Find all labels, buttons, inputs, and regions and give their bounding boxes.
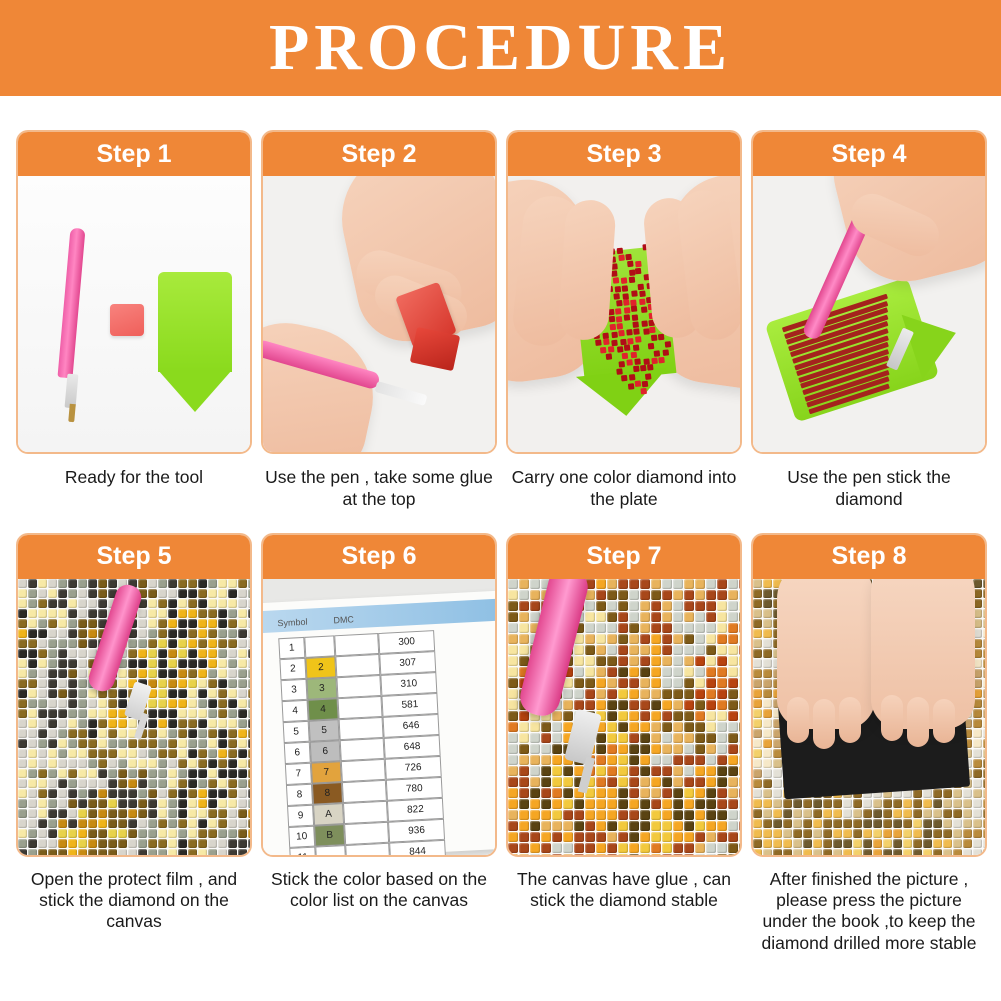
- chart-cell-code: 844: [389, 840, 446, 855]
- step-7-image: [508, 579, 740, 855]
- chart-cell-blank: [343, 801, 388, 824]
- chart-cell-code: 726: [385, 756, 442, 780]
- chart-cell-code: 780: [386, 777, 443, 801]
- chart-cell-no: 6: [284, 742, 311, 764]
- chart-cell-no: 9: [287, 804, 314, 826]
- steps-row-2: Step 5 Open the protect film , and stick…: [16, 533, 986, 954]
- step-5-card: Step 5: [16, 533, 252, 857]
- step-3-caption: Carry one color diamond into the plate: [506, 466, 742, 511]
- step-5-label: Step 5: [18, 535, 250, 579]
- chart-cell-blank: [339, 717, 384, 740]
- chart-cell-symbol: 4: [308, 698, 339, 721]
- step-3-label: Step 3: [508, 132, 740, 176]
- step-7-label: Step 7: [508, 535, 740, 579]
- step-4-image: [753, 176, 985, 452]
- chart-cell-no: 8: [286, 783, 313, 805]
- chart-cell-symbol: B: [314, 824, 345, 847]
- step-8-card: Step 8: [751, 533, 987, 857]
- steps-row-1: Step 1: [16, 130, 986, 511]
- chart-cell-blank: [342, 780, 387, 803]
- step-card-3: Step 3: [506, 130, 742, 511]
- chart-cell-code: 581: [381, 693, 438, 717]
- chart-cell-no: 5: [283, 721, 310, 743]
- chart-cell-blank: [336, 675, 381, 698]
- chart-cell-code: 310: [380, 672, 437, 696]
- procedure-poster: PROCEDURE Step 1: [0, 0, 1001, 1001]
- step-card-2: Step 2: [261, 130, 497, 511]
- step-2-card: Step 2: [261, 130, 497, 454]
- step-4-card: Step 4: [751, 130, 987, 454]
- chart-cell-no: 10: [288, 825, 315, 847]
- chart-cell-symbol: 6: [310, 740, 341, 763]
- step-4-caption: Use the pen stick the diamond: [751, 466, 987, 511]
- step-8-label: Step 8: [753, 535, 985, 579]
- page-title: PROCEDURE: [269, 15, 732, 81]
- step-1-card: Step 1: [16, 130, 252, 454]
- chart-cell-no: 2: [279, 658, 306, 680]
- step-3-image: [508, 176, 740, 452]
- chart-cell-code: 300: [378, 630, 435, 654]
- chart-cell-blank: [334, 633, 379, 656]
- chart-cell-symbol: [315, 845, 346, 855]
- step-card-4: Step 4 Use the: [751, 130, 987, 511]
- step-1-image: [18, 176, 250, 452]
- chart-cell-blank: [337, 696, 382, 719]
- chart-header-dmc: DMC: [333, 614, 355, 635]
- chart-cell-symbol: 7: [311, 761, 342, 784]
- chart-cell-symbol: 2: [305, 656, 336, 679]
- step-card-5: Step 5 Open the protect film , and stick…: [16, 533, 252, 954]
- step-2-image: [263, 176, 495, 452]
- step-6-label: Step 6: [263, 535, 495, 579]
- steps-grid: Step 1: [16, 130, 986, 954]
- step-8-caption: After finished the picture , please pres…: [751, 869, 987, 954]
- chart-cell-code: 646: [383, 714, 440, 738]
- chart-cell-symbol: 3: [306, 677, 337, 700]
- step-7-caption: The canvas have glue , can stick the dia…: [506, 869, 742, 912]
- chart-cell-no: 1: [278, 637, 305, 659]
- chart-cell-symbol: 5: [309, 719, 340, 742]
- chart-cell-blank: [341, 759, 386, 782]
- chart-cell-code: 822: [387, 798, 444, 822]
- step-card-8: Step 8: [751, 533, 987, 954]
- step-2-caption: Use the pen , take some glue at the top: [261, 466, 497, 511]
- chart-cell-code: 307: [379, 651, 436, 675]
- step-8-image: [753, 579, 985, 855]
- red-wax-icon: [110, 304, 144, 336]
- step-7-card: Step 7: [506, 533, 742, 857]
- page-header-banner: PROCEDURE: [0, 0, 1001, 96]
- chart-cell-blank: [340, 738, 385, 761]
- step-6-image: Symbol DMC 13002230733310445815564666648…: [263, 579, 495, 855]
- step-5-image: [18, 579, 250, 855]
- step-card-6: Step 6 Symbol DMC 1300223073331044581556…: [261, 533, 497, 954]
- step-1-caption: Ready for the tool: [16, 466, 252, 488]
- chart-cell-no: 4: [282, 700, 309, 722]
- chart-cell-symbol: 8: [312, 782, 343, 805]
- step-1-label: Step 1: [18, 132, 250, 176]
- chart-cell-no: 7: [285, 763, 312, 785]
- color-chart-sheet: Symbol DMC 13002230733310445815564666648…: [263, 590, 495, 855]
- step-5-caption: Open the protect film , and stick the di…: [16, 869, 252, 933]
- green-tray-icon: [158, 272, 232, 372]
- chart-cell-blank: [335, 654, 380, 677]
- chart-cell-symbol: A: [313, 803, 344, 826]
- chart-cell-no: 11: [289, 846, 316, 854]
- chart-cell-code: 936: [388, 819, 445, 843]
- chart-cell-code: 648: [384, 735, 441, 759]
- color-chart-table: 1300223073331044581556466664877726887809…: [278, 628, 494, 855]
- step-card-7: Step 7 The canvas have glue , can stick …: [506, 533, 742, 954]
- step-6-card: Step 6 Symbol DMC 1300223073331044581556…: [261, 533, 497, 857]
- step-6-caption: Stick the color based on the color list …: [261, 869, 497, 912]
- step-2-label: Step 2: [263, 132, 495, 176]
- chart-cell-blank: [345, 843, 390, 855]
- chart-cell-no: 3: [280, 679, 307, 701]
- chart-cell-symbol: [304, 635, 335, 658]
- step-4-label: Step 4: [753, 132, 985, 176]
- step-3-card: Step 3: [506, 130, 742, 454]
- chart-cell-blank: [344, 822, 389, 845]
- chart-header-symbol: Symbol: [277, 616, 308, 638]
- step-card-1: Step 1: [16, 130, 252, 511]
